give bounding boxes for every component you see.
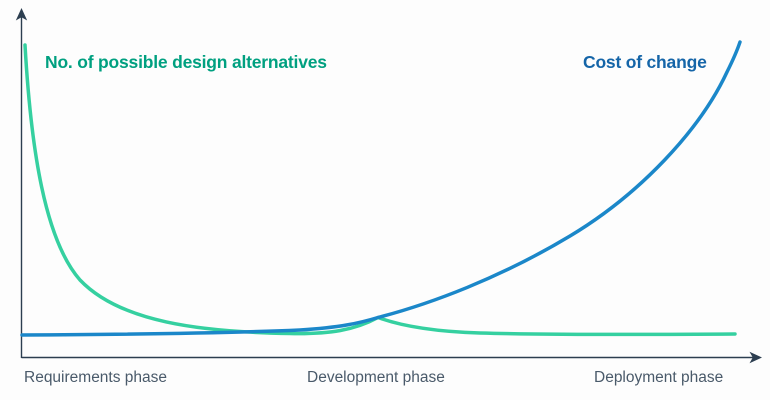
x-axis-tick-label-deployment-phase: Deployment phase (594, 369, 723, 387)
series-line-cost-of-change (22, 42, 740, 335)
series-line-design-alternatives (25, 45, 735, 334)
chart-canvas: No. of possible design alternatives Cost… (0, 0, 770, 400)
x-axis-tick-label-requirements-phase: Requirements phase (24, 369, 167, 387)
x-axis-tick-label-development-phase: Development phase (307, 369, 445, 387)
series-label-cost-of-change: Cost of change (583, 52, 707, 73)
x-axis (22, 352, 763, 363)
series-label-design-alternatives: No. of possible design alternatives (45, 52, 327, 73)
